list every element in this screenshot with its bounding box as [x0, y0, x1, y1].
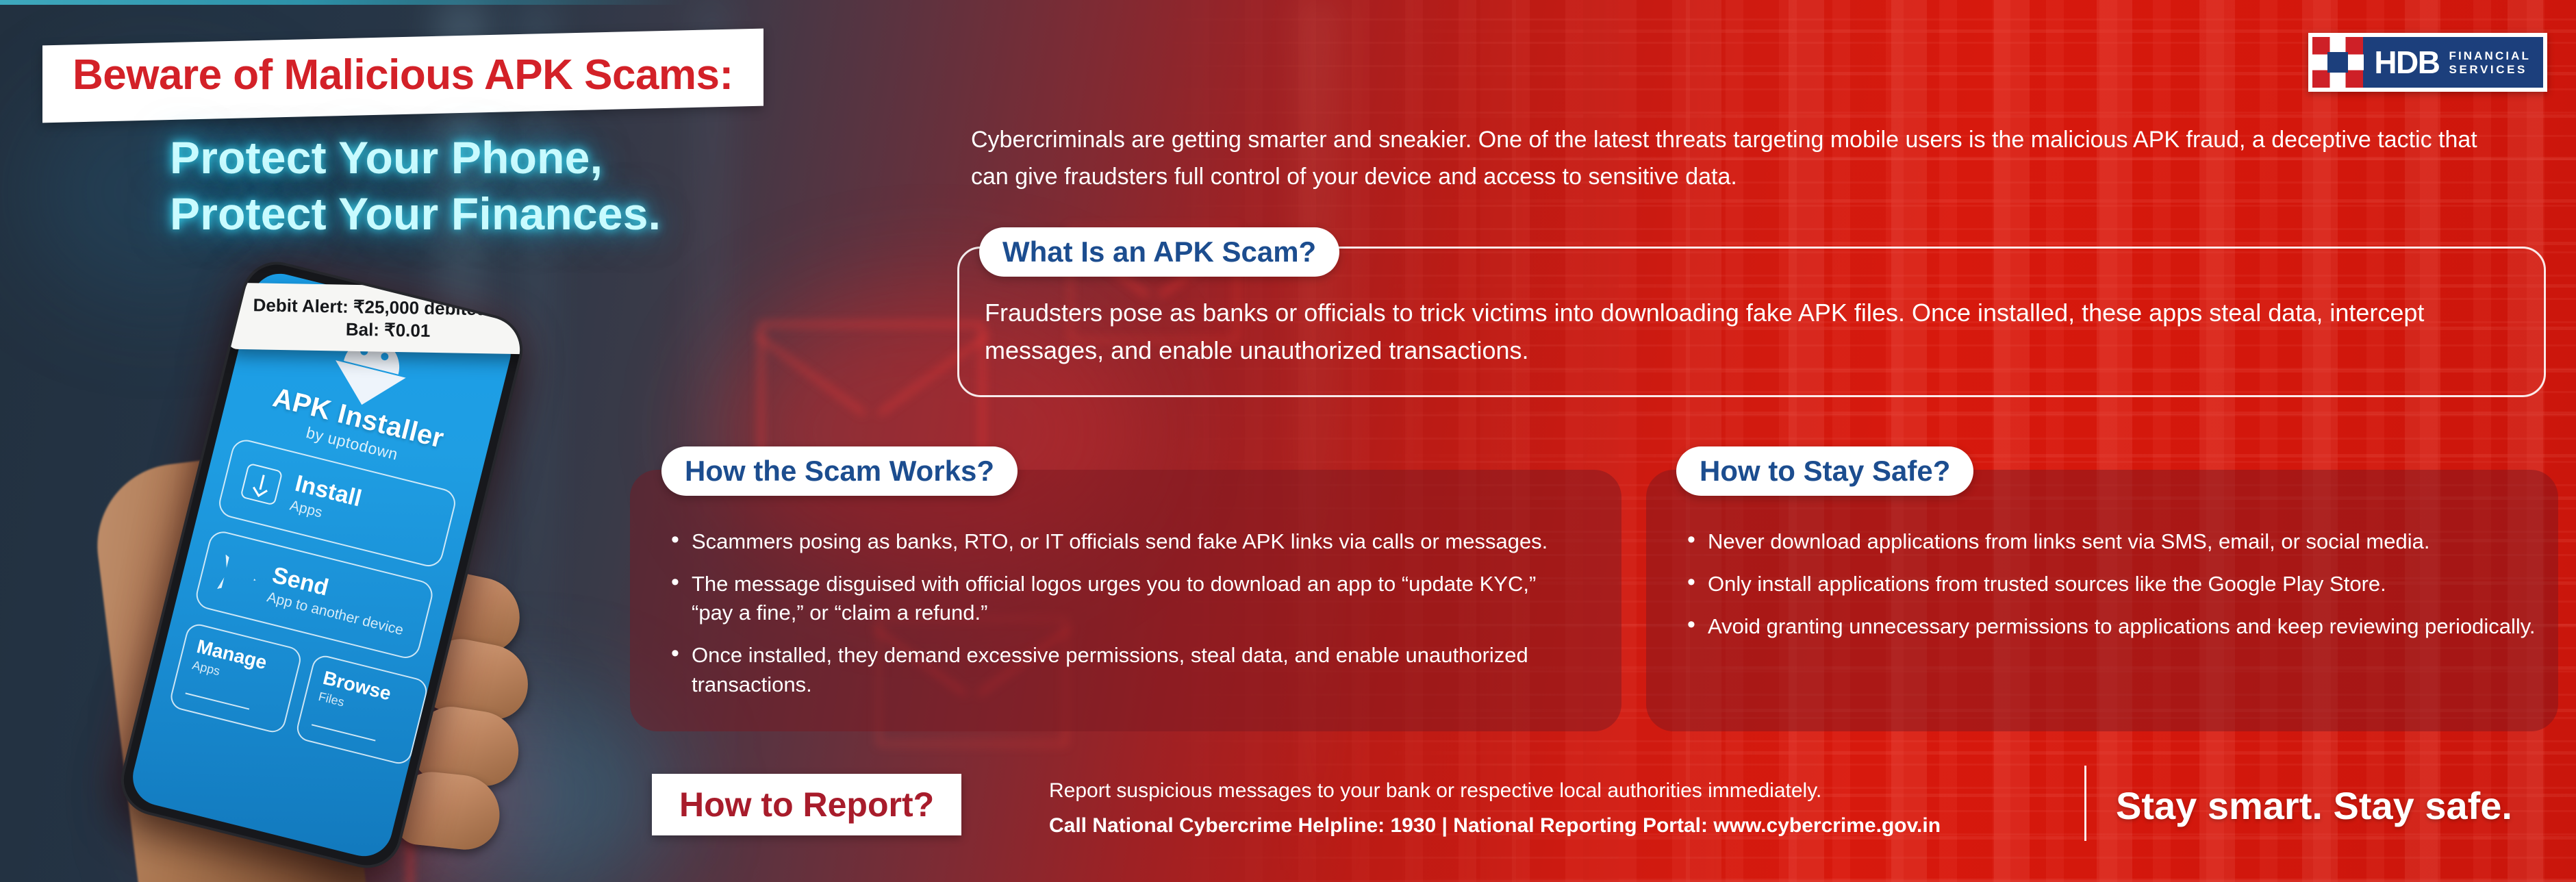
- list-item: Scammers posing as banks, RTO, or IT off…: [666, 527, 1576, 556]
- logo-wordmark: HDB FINANCIAL SERVICES: [2363, 37, 2543, 88]
- headline-text: Beware of Malicious APK Scams:: [73, 51, 733, 99]
- phone-photo: APK Installer by uptodown Install Apps S…: [75, 253, 582, 882]
- report-line-2: Call National Cybercrime Helpline: 1930 …: [1049, 810, 1941, 841]
- subheadline-line-2: Protect Your Finances.: [170, 186, 661, 242]
- hdb-financial-services-logo: HDB FINANCIAL SERVICES: [2308, 33, 2547, 92]
- how-scam-works-list: Scammers posing as banks, RTO, or IT off…: [666, 527, 1576, 713]
- vertical-divider: [2084, 766, 2086, 841]
- send-label: Send App to another device: [265, 563, 411, 639]
- report-line-1: Report suspicious messages to your bank …: [1049, 775, 1941, 806]
- logo-hdb-text: HDB: [2374, 47, 2439, 78]
- what-is-apk-scam-body: Fraudsters pose as banks or officials to…: [985, 294, 2525, 369]
- hdb-square-mark-icon: [2312, 37, 2363, 88]
- send-arrow-icon: [217, 555, 260, 598]
- list-item: Avoid granting unnecessary permissions t…: [1682, 612, 2538, 641]
- tagline: Stay smart. Stay safe.: [2116, 783, 2512, 828]
- intro-paragraph: Cybercriminals are getting smarter and s…: [971, 122, 2512, 195]
- headline-ribbon: Beware of Malicious APK Scams:: [42, 29, 763, 123]
- subheadline: Protect Your Phone, Protect Your Finance…: [170, 130, 661, 242]
- what-is-apk-scam-heading: What Is an APK Scam?: [979, 227, 1339, 277]
- how-to-report-heading: How to Report?: [652, 774, 961, 835]
- tile-underline: [186, 692, 250, 710]
- top-accent-strip: [0, 0, 685, 5]
- how-to-stay-safe-list: Never download applications from links s…: [1682, 527, 2538, 655]
- infographic-banner: APK Installer by uptodown Install Apps S…: [0, 0, 2576, 882]
- manage-apps-tile[interactable]: Manage Apps: [168, 622, 303, 735]
- subheadline-line-1: Protect Your Phone,: [170, 130, 661, 186]
- list-item: Only install applications from trusted s…: [1682, 570, 2538, 598]
- logo-tagline-line-1: FINANCIAL: [2449, 50, 2531, 62]
- logo-tagline: FINANCIAL SERVICES: [2449, 50, 2531, 75]
- download-icon: [240, 463, 283, 506]
- logo-tagline-line-2: SERVICES: [2449, 64, 2531, 75]
- debit-alert-notification: Debit Alert: ₹25,000 debited. Avl Bal: ₹…: [227, 283, 530, 355]
- hdb-mark-core: [2327, 52, 2348, 73]
- install-label: Install Apps: [288, 471, 364, 529]
- how-to-stay-safe-heading: How to Stay Safe?: [1676, 446, 1973, 496]
- how-scam-works-heading: How the Scam Works?: [661, 446, 1018, 496]
- robot-eye-icon: [380, 352, 389, 361]
- browse-files-tile[interactable]: Browse Files: [294, 653, 430, 767]
- list-item: The message disguised with official logo…: [666, 570, 1576, 627]
- list-item: Never download applications from links s…: [1682, 527, 2538, 556]
- list-item: Once installed, they demand excessive pe…: [666, 641, 1576, 698]
- report-details: Report suspicious messages to your bank …: [1049, 775, 1941, 841]
- tile-underline: [312, 724, 376, 742]
